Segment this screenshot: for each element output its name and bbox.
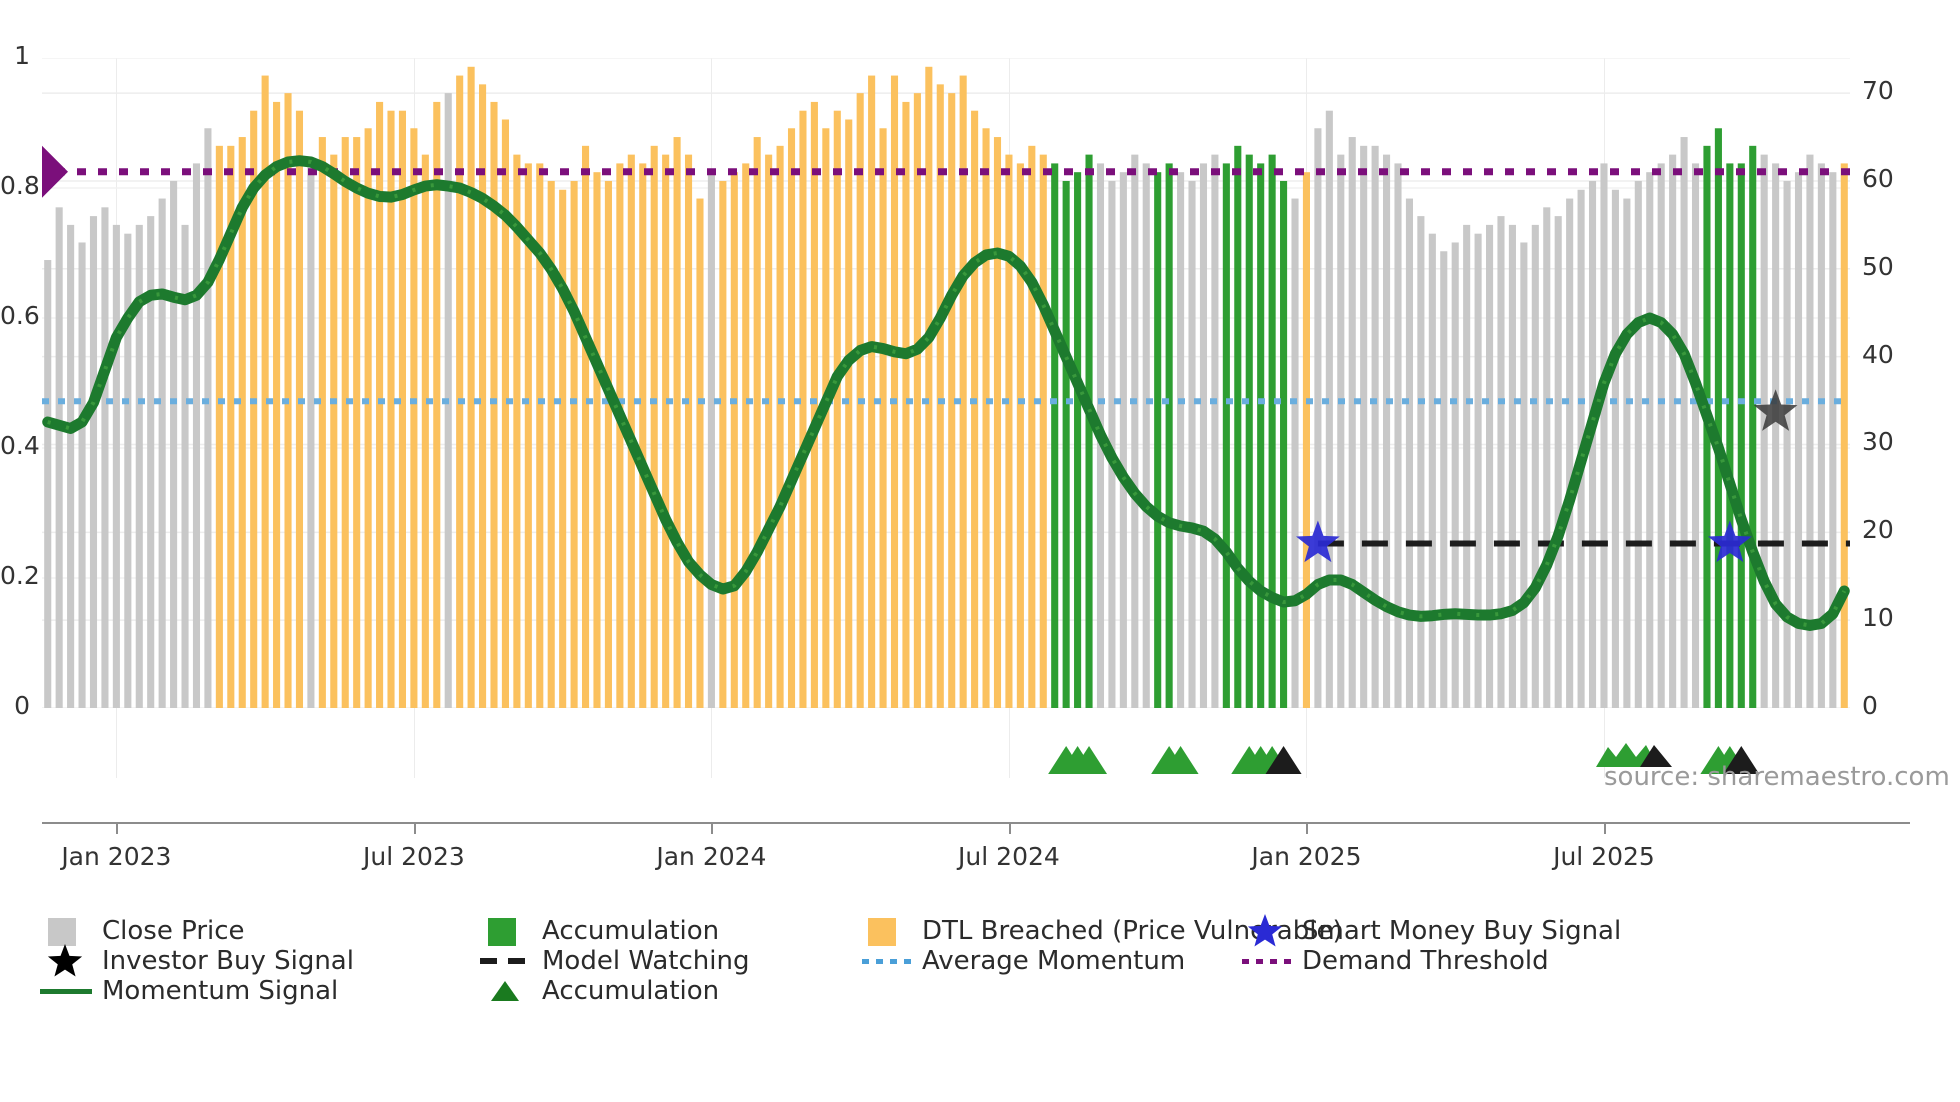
- price-bar: [1623, 199, 1630, 708]
- price-bar: [994, 137, 1001, 708]
- price-bar: [1749, 146, 1756, 708]
- price-bar: [731, 172, 738, 708]
- x-axis-line: [42, 822, 1910, 824]
- price-bar: [101, 207, 108, 708]
- price-bar: [1063, 181, 1070, 708]
- price-bar: [1188, 181, 1195, 708]
- y-axis-left-tick: 0.2: [0, 561, 30, 590]
- x-axis-tick-label: Jul 2024: [909, 842, 1109, 871]
- price-bar: [365, 128, 372, 708]
- price-bar: [1314, 128, 1321, 708]
- chart-root: 00.20.40.60.81 010203040506070 Jan 2023J…: [0, 0, 1960, 1102]
- dashed-line-icon: [480, 958, 532, 964]
- price-bar: [353, 137, 360, 708]
- price-bar: [170, 181, 177, 708]
- y-axis-right-tick: 10: [1862, 603, 1894, 632]
- price-bar: [662, 155, 669, 708]
- price-bar: [159, 199, 166, 708]
- legend-swatch-accumulation-triangle: [480, 972, 532, 1010]
- price-bar: [113, 225, 120, 708]
- price-bar: [616, 163, 623, 708]
- price-bar: [571, 181, 578, 708]
- price-bar: [1417, 216, 1424, 708]
- price-bar: [1440, 251, 1447, 708]
- price-bar: [593, 172, 600, 708]
- price-bar: [925, 67, 932, 708]
- price-bar: [1234, 146, 1241, 708]
- price-bar: [1772, 163, 1779, 708]
- price-bar: [674, 137, 681, 708]
- price-bar: [307, 163, 314, 708]
- price-bar: [845, 119, 852, 708]
- price-bar: [754, 137, 761, 708]
- price-bar: [1154, 172, 1161, 708]
- x-axis-tick-label: Jan 2023: [16, 842, 216, 871]
- legend-label: Momentum Signal: [102, 972, 338, 1010]
- price-bar: [1486, 225, 1493, 708]
- legend-label: Average Momentum: [922, 942, 1185, 980]
- price-bar: [880, 128, 887, 708]
- price-bar: [296, 111, 303, 708]
- dotted-line-icon: [1242, 959, 1292, 964]
- price-bar: [67, 225, 74, 708]
- price-bar: [1394, 163, 1401, 708]
- x-axis-tick-label: Jul 2023: [314, 842, 514, 871]
- price-bar: [1051, 163, 1058, 708]
- price-bar: [468, 67, 475, 708]
- price-bar: [719, 181, 726, 708]
- price-bar: [1085, 155, 1092, 708]
- price-bar: [1497, 216, 1504, 708]
- price-bar: [1600, 163, 1607, 708]
- y-axis-left-tick: 0.6: [0, 301, 30, 330]
- price-bar: [765, 155, 772, 708]
- price-bar: [834, 111, 841, 708]
- price-bar: [971, 111, 978, 708]
- price-bar: [1463, 225, 1470, 708]
- price-bar: [1211, 155, 1218, 708]
- y-axis-left-tick: 0: [0, 691, 30, 720]
- price-bar: [1223, 163, 1230, 708]
- y-axis-right-tick: 50: [1862, 252, 1894, 281]
- price-bar: [788, 128, 795, 708]
- y-axis-left-tick: 1: [0, 41, 30, 70]
- y-axis-right-tick: 30: [1862, 427, 1894, 456]
- x-axis-tick: [711, 822, 713, 834]
- momentum-signal-line: [48, 161, 1845, 626]
- x-axis-tick: [1306, 822, 1308, 834]
- price-bar: [1280, 181, 1287, 708]
- x-axis-tick: [1604, 822, 1606, 834]
- price-bar: [1520, 242, 1527, 708]
- price-bar: [1543, 207, 1550, 708]
- demand-threshold-start-marker: [42, 146, 68, 198]
- legend-swatch-average-momentum: [860, 942, 912, 980]
- momentum-signal-highlight: [48, 161, 1845, 626]
- price-bar: [1360, 146, 1367, 708]
- price-bar: [204, 128, 211, 708]
- price-bar: [79, 242, 86, 708]
- price-bar: [1669, 155, 1676, 708]
- price-bar: [1246, 155, 1253, 708]
- x-axis-tick: [414, 822, 416, 834]
- legend-label: Demand Threshold: [1302, 942, 1549, 980]
- price-bar: [777, 146, 784, 708]
- price-bar: [914, 93, 921, 708]
- price-bar: [410, 128, 417, 708]
- price-bar: [1177, 172, 1184, 708]
- price-bar: [90, 216, 97, 708]
- price-bar: [1612, 190, 1619, 708]
- price-bar: [937, 84, 944, 708]
- price-bar: [1028, 146, 1035, 708]
- price-bar: [1635, 181, 1642, 708]
- price-bar: [56, 207, 63, 708]
- price-bar: [696, 199, 703, 708]
- price-bar: [582, 146, 589, 708]
- price-bar: [605, 181, 612, 708]
- price-bar: [1074, 172, 1081, 708]
- price-bar: [1383, 155, 1390, 708]
- price-bar: [651, 146, 658, 708]
- y-axis-right-tick: 70: [1862, 76, 1894, 105]
- x-axis-tick: [116, 822, 118, 834]
- y-axis-right-tick: 20: [1862, 515, 1894, 544]
- legend-swatch-demand-threshold: [1240, 942, 1292, 980]
- price-bar: [1784, 181, 1791, 708]
- price-bar: [479, 84, 486, 708]
- price-bar: [1452, 242, 1459, 708]
- plot-area: [42, 58, 1850, 708]
- price-bar: [273, 102, 280, 708]
- price-bar: [868, 76, 875, 708]
- price-bar: [44, 260, 51, 708]
- price-bar: [193, 163, 200, 708]
- y-axis-right-tick: 40: [1862, 340, 1894, 369]
- price-bar: [559, 190, 566, 708]
- price-bar: [1406, 199, 1413, 708]
- price-bar: [1715, 128, 1722, 708]
- price-bar: [1509, 225, 1516, 708]
- price-bar: [422, 155, 429, 708]
- price-bar: [1372, 146, 1379, 708]
- price-bar: [1303, 172, 1310, 708]
- price-bar: [1566, 199, 1573, 708]
- price-bar: [1658, 163, 1665, 708]
- price-bar: [1726, 163, 1733, 708]
- price-bar: [742, 163, 749, 708]
- price-bar: [708, 172, 715, 708]
- legend-label: Accumulation: [542, 972, 719, 1010]
- x-axis-tick-label: Jan 2025: [1206, 842, 1406, 871]
- price-bar: [1841, 163, 1848, 708]
- price-bar: [685, 155, 692, 708]
- price-bar: [1017, 163, 1024, 708]
- price-bar: [490, 102, 497, 708]
- price-bar: [1429, 234, 1436, 708]
- price-bar: [1475, 234, 1482, 708]
- price-bar: [1131, 155, 1138, 708]
- price-bar: [1829, 172, 1836, 708]
- price-bar: [1200, 163, 1207, 708]
- price-bar: [799, 111, 806, 708]
- price-bar: [1555, 216, 1562, 708]
- price-bar: [1692, 163, 1699, 708]
- price-bar: [330, 155, 337, 708]
- price-bar: [1040, 155, 1047, 708]
- price-bar: [902, 102, 909, 708]
- price-bar: [639, 163, 646, 708]
- price-bar: [1646, 172, 1653, 708]
- price-bar: [1349, 137, 1356, 708]
- price-bar: [1269, 155, 1276, 708]
- price-bar: [1337, 155, 1344, 708]
- price-bar: [433, 102, 440, 708]
- price-bar: [1143, 163, 1150, 708]
- accumulation-triangle-markers: [42, 730, 1850, 790]
- price-bar: [983, 128, 990, 708]
- x-axis-tick: [1009, 822, 1011, 834]
- triangle-icon: [482, 973, 528, 1011]
- price-bar: [1681, 137, 1688, 708]
- plot-svg: [42, 58, 1850, 708]
- price-bar: [342, 137, 349, 708]
- price-bar: [1120, 172, 1127, 708]
- price-bar: [1761, 155, 1768, 708]
- source-attribution: source: sharemaestro.com: [1604, 762, 1950, 792]
- price-bar: [1166, 163, 1173, 708]
- price-bar: [1326, 111, 1333, 708]
- y-axis-right-tick: 0: [1862, 691, 1878, 720]
- dotted-line-icon: [862, 959, 912, 964]
- price-bar: [216, 146, 223, 708]
- price-bar: [811, 102, 818, 708]
- y-axis-left-tick: 0.4: [0, 431, 30, 460]
- price-bar: [319, 137, 326, 708]
- price-bar: [1291, 199, 1298, 708]
- x-axis-tick-label: Jan 2024: [611, 842, 811, 871]
- price-bar: [1532, 225, 1539, 708]
- y-axis-right-tick: 60: [1862, 164, 1894, 193]
- price-bar: [1257, 163, 1264, 708]
- y-axis-left-tick: 0.8: [0, 171, 30, 200]
- x-axis-tick-label: Jul 2025: [1504, 842, 1704, 871]
- line-icon: [40, 989, 92, 994]
- legend-swatch-momentum-signal: [40, 972, 92, 1010]
- price-bar: [1738, 163, 1745, 708]
- price-bar: [124, 234, 131, 708]
- price-bar: [1005, 155, 1012, 708]
